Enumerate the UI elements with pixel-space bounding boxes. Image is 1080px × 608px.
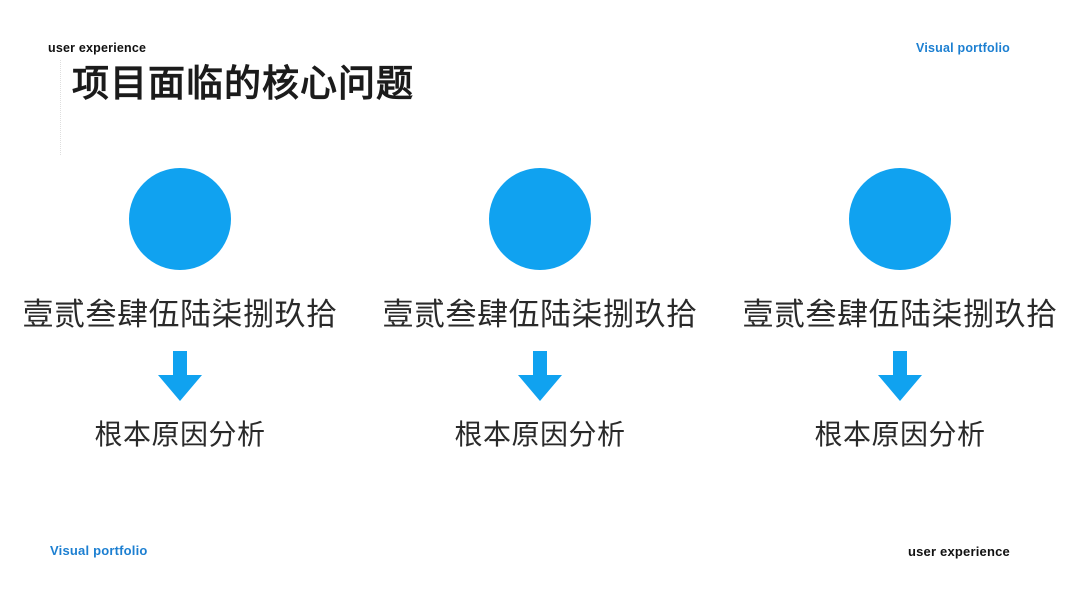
title-accent-rule [60, 60, 62, 155]
result-label: 根本原因分析 [454, 417, 625, 452]
arrow-down-icon [148, 351, 212, 401]
issue-label: 壹贰叁肆伍陆柒捌玖拾 [383, 296, 698, 335]
issue-label: 壹贰叁肆伍陆柒捌玖拾 [743, 296, 1058, 335]
arrow-down-icon [868, 351, 932, 401]
circle-shape-icon [129, 168, 231, 270]
issue-columns: 壹贰叁肆伍陆柒捌玖拾 根本原因分析 壹贰叁肆伍陆柒捌玖拾 根本原因分析 壹贰叁肆… [0, 168, 1080, 452]
issue-column-1: 壹贰叁肆伍陆柒捌玖拾 根本原因分析 [0, 168, 360, 452]
slide-canvas: user experience Visual portfolio 项目面临的核心… [0, 0, 1080, 608]
circle-shape-icon [489, 168, 591, 270]
issue-column-2: 壹贰叁肆伍陆柒捌玖拾 根本原因分析 [360, 168, 720, 452]
page-title: 项目面临的核心问题 [72, 62, 414, 106]
footer-left-label: Visual portfolio [50, 543, 148, 558]
result-label: 根本原因分析 [94, 417, 265, 452]
footer-right-label: user experience [908, 544, 1010, 559]
header-right-label: Visual portfolio [916, 41, 1010, 55]
header-left-label: user experience [48, 41, 146, 55]
circle-shape-icon [849, 168, 951, 270]
issue-label: 壹贰叁肆伍陆柒捌玖拾 [23, 296, 338, 335]
result-label: 根本原因分析 [814, 417, 985, 452]
arrow-down-icon [508, 351, 572, 401]
issue-column-3: 壹贰叁肆伍陆柒捌玖拾 根本原因分析 [720, 168, 1080, 452]
